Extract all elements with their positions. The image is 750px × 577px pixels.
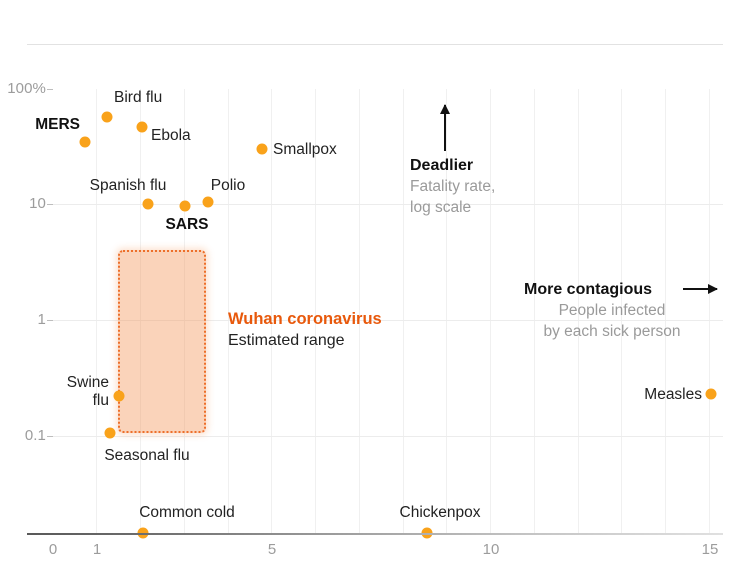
data-label-swine-flu-line2: flu <box>93 391 109 410</box>
y-axis-annotation-line1: Fatality rate, <box>410 176 495 197</box>
data-point-swine-flu[interactable] <box>114 391 125 402</box>
y-axis-tick-10: 10 <box>0 195 46 213</box>
y-axis-tick-100: 100% <box>0 80 46 98</box>
data-label-bird-flu: Bird flu <box>114 88 162 107</box>
x-axis-annotation: More contagious People infected by each … <box>524 279 700 342</box>
data-label-chickenpox: Chickenpox <box>400 503 481 522</box>
y-axis-annotation: Deadlier Fatality rate, log scale <box>410 155 495 218</box>
x-axis-annotation-head: More contagious <box>524 279 700 300</box>
y-axis-tick-label-0p1: 0.1 <box>25 427 46 444</box>
x-axis-annotation-line2: by each sick person <box>524 321 700 342</box>
data-point-bird-flu[interactable] <box>102 112 113 123</box>
data-label-mers: MERS <box>35 115 80 134</box>
x-axis-tick-label-1: 1 <box>93 541 101 558</box>
y-axis-tick-dash-100 <box>47 89 53 90</box>
y-axis-annotation-head: Deadlier <box>410 155 495 176</box>
data-point-polio[interactable] <box>203 197 214 208</box>
data-point-mers[interactable] <box>80 137 91 148</box>
y-axis-tick-0p1: 0.1 <box>0 427 46 445</box>
data-point-sars[interactable] <box>180 201 191 212</box>
data-point-smallpox[interactable] <box>257 144 268 155</box>
data-label-measles: Measles <box>644 385 702 404</box>
gridline-vertical-1 <box>96 89 97 533</box>
y-axis-tick-label-1: 1 <box>38 311 46 328</box>
y-axis-tick-label-10: 10 <box>29 195 46 212</box>
wuhan-coronavirus-range-box <box>118 250 206 433</box>
wuhan-callout-title: Wuhan coronavirus <box>228 308 382 330</box>
gridline-horizontal-0p1 <box>52 436 723 437</box>
data-label-spanish-flu: Spanish flu <box>90 176 167 195</box>
x-axis-tick-label-0: 0 <box>49 541 57 558</box>
data-label-polio: Polio <box>211 176 245 195</box>
x-axis-tick-label-15: 15 <box>702 541 719 558</box>
data-point-ebola[interactable] <box>137 122 148 133</box>
data-label-smallpox: Smallpox <box>273 140 337 159</box>
y-axis-tick-label-100: 100% <box>7 80 46 97</box>
gridline-vertical-8 <box>403 89 404 533</box>
y-axis-tick-dash-1 <box>47 320 53 321</box>
data-label-swine-flu-line1: Swine <box>67 373 109 392</box>
plot-area: 100% 10 1 0.1 MERS Bird flu <box>0 0 750 577</box>
gridline-vertical-15 <box>709 89 710 533</box>
disease-scatter-chart: 100% 10 1 0.1 MERS Bird flu <box>0 0 750 577</box>
data-label-sars: SARS <box>165 215 208 234</box>
data-point-spanish-flu[interactable] <box>143 199 154 210</box>
wuhan-callout-subtitle: Estimated range <box>228 330 382 352</box>
x-axis-tick-label-5: 5 <box>268 541 276 558</box>
y-axis-annotation-line2: log scale <box>410 197 495 218</box>
data-point-seasonal-flu[interactable] <box>105 428 116 439</box>
y-axis-tick-dash-10 <box>47 204 53 205</box>
data-label-common-cold: Common cold <box>139 503 235 522</box>
data-label-ebola: Ebola <box>151 126 191 145</box>
data-point-measles[interactable] <box>706 389 717 400</box>
x-axis-tick-label-10: 10 <box>483 541 500 558</box>
data-label-seasonal-flu: Seasonal flu <box>104 446 189 465</box>
wuhan-coronavirus-callout: Wuhan coronavirus Estimated range <box>228 308 382 352</box>
x-axis-line <box>27 533 723 535</box>
arrow-up-icon <box>444 105 446 151</box>
y-axis-tick-dash-0p1 <box>47 436 53 437</box>
x-axis-annotation-line1: People infected <box>524 300 700 321</box>
y-axis-tick-1: 1 <box>0 311 46 329</box>
